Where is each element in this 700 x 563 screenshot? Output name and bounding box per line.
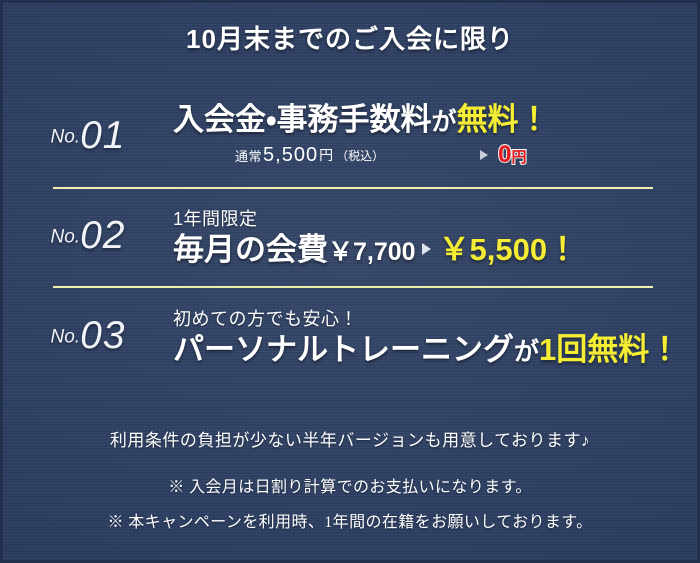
offer-headline-1: 入会金・事務手数料が無料！ [173, 103, 683, 138]
offer-number-prefix-3: No. [51, 326, 81, 347]
offer-number-badge-3: No.03 [3, 314, 173, 358]
offer-headline-main-3: パーソナルトレーニング [173, 332, 514, 367]
regular-price-yen-unit: 円 [319, 145, 333, 165]
offer-headline-3: パーソナルトレーニングが1回無料！ [173, 333, 683, 368]
offer-headline-particle-3: が [514, 338, 539, 366]
campaign-banner: 10月末までのご入会に限り No.01 入会金・事務手数料が無料！ 通常 5,5… [0, 0, 700, 563]
offer-body-1: 入会金・事務手数料が無料！ 通常 5,500 円 （税込） 0円 [173, 103, 697, 170]
offer-number-badge-1: No.01 [3, 114, 173, 158]
offer-number-prefix-2: No. [51, 226, 81, 247]
footer-lead-note: 利用条件の負担が少ない半年バージョンも用意しております♪ [3, 426, 697, 451]
offer-body-2: 1年間限定 毎月の会費￥7,700￥5,500！ [173, 205, 697, 268]
offer-number-value-3: 03 [80, 314, 125, 357]
regular-price-label: 通常 [235, 146, 262, 165]
offer-body-3: 初めての方でも安心！ パーソナルトレーニングが1回無料！ [173, 305, 697, 368]
banner-header-title: 10月末までのご入会に限り [3, 19, 697, 56]
offer-headline-highlight-2: ￥5,500！ [439, 232, 579, 267]
arrow-right-icon [480, 150, 488, 160]
offer-headline-2: 毎月の会費￥7,700￥5,500！ [173, 233, 683, 268]
regular-price-tax-note: （税込） [333, 147, 384, 164]
offer-number-value-1: 01 [80, 114, 125, 157]
discounted-price-1: 0円 [498, 141, 526, 169]
discounted-price-yen-unit-1: 円 [511, 149, 526, 166]
offer-headline-particle-1: が [432, 108, 457, 136]
offer-row-3: No.03 初めての方でも安心！ パーソナルトレーニングが1回無料！ [3, 299, 697, 373]
arrow-right-icon [422, 243, 431, 255]
divider-line-1 [53, 187, 653, 189]
offer-subline-1: 通常 5,500 円 （税込） 0円 [173, 141, 683, 169]
divider-line-2 [53, 286, 653, 288]
offer-headline-main-1: 入会金・事務手数料 [173, 102, 432, 137]
offer-lead-3: 初めての方でも安心！ [173, 305, 683, 331]
offer-lead-2: 1年間限定 [173, 205, 683, 231]
offer-headline-main-2: 毎月の会費 [173, 232, 328, 267]
regular-price-amount: 5,500 [262, 144, 319, 167]
discounted-price-number-1: 0 [498, 141, 511, 168]
offer-headline-highlight-1: 無料！ [457, 102, 550, 137]
offer-row-2: No.02 1年間限定 毎月の会費￥7,700￥5,500！ [3, 199, 697, 273]
footer-note-1: ※ 入会月は日割り計算でのお支払いになります。 [3, 473, 697, 497]
offer-number-prefix-1: No. [51, 126, 81, 147]
offer-headline-highlight-3: 1回無料！ [539, 332, 680, 367]
footer-note-2: ※ 本キャンペーンを利用時、1年間の在籍をお願いしております。 [3, 508, 697, 532]
offer-row-1: No.01 入会金・事務手数料が無料！ 通常 5,500 円 （税込） 0円 [3, 100, 697, 172]
offer-old-price-2: ￥7,700 [328, 238, 416, 266]
offer-number-value-2: 02 [80, 214, 125, 257]
offer-number-badge-2: No.02 [3, 214, 173, 258]
